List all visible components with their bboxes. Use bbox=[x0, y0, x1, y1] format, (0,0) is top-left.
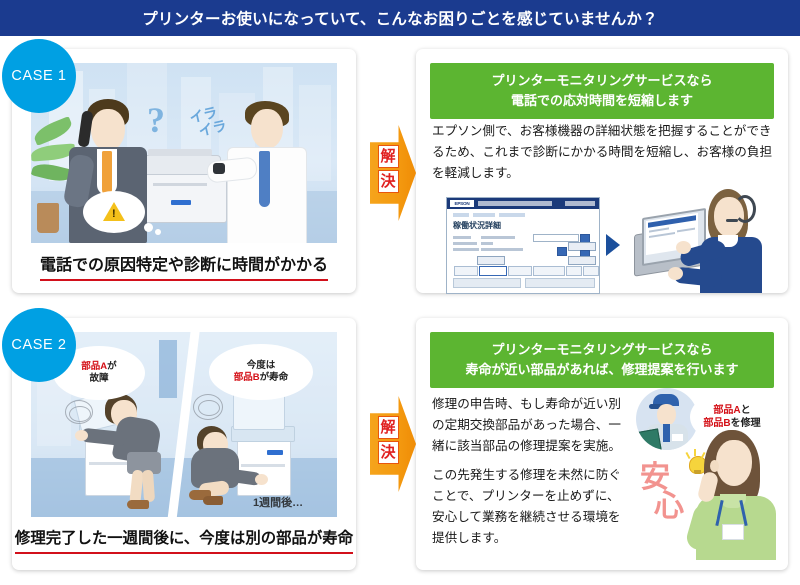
solution-1-card: プリンターモニタリングサービスなら 電話での応対時間を短縮します エプソン側で、… bbox=[416, 49, 788, 293]
screenshot-form-label bbox=[453, 242, 477, 245]
case-1-caption-text: 電話での原因特定や診断に時間がかかる bbox=[40, 251, 328, 281]
bubble-right-suffix: が寿命 bbox=[260, 372, 289, 383]
screenshot-nav-text bbox=[565, 201, 595, 206]
solution-1-header: プリンターモニタリングサービスなら 電話での応対時間を短縮します bbox=[430, 63, 774, 119]
bulb-ray bbox=[685, 452, 690, 459]
plant-pot bbox=[37, 203, 59, 233]
case-2-illustration: 部品Aが 故障 今度は 部品Bが寿命 1週間後… bbox=[31, 332, 337, 517]
head-shape bbox=[716, 440, 752, 486]
solution-2-illustration: 部品Aと 部品Bを修理 安 心 bbox=[634, 388, 780, 560]
screenshot-breadcrumb bbox=[453, 213, 469, 217]
blue-right-arrow-icon bbox=[606, 234, 620, 256]
copier-body bbox=[237, 438, 291, 496]
solution-1-header-line-1: プリンターモニタリングサービスなら bbox=[430, 71, 774, 91]
case-2-caption: 修理完了した一週間後に、今度は別の部品が寿命 bbox=[12, 526, 356, 554]
bubble-left-highlight: 部品A bbox=[81, 361, 107, 372]
hand-shape bbox=[668, 267, 683, 280]
screenshot-form-value bbox=[481, 242, 493, 245]
case-1-card: CASE 1 bbox=[12, 49, 356, 293]
screenshot-tab-active[interactable] bbox=[479, 266, 507, 276]
case-2-bubble-right: 今度は 部品Bが寿命 bbox=[209, 344, 313, 400]
clipboard-icon bbox=[638, 428, 662, 450]
solution-2-paragraph-1: 修理の申告時、もし寿命が近い別の定期交換部品があった場合、一緒に該当部品の修理提… bbox=[432, 394, 630, 456]
case-1-illustration: ! ? イラ イラ bbox=[31, 63, 337, 243]
screenshot-nav-text bbox=[478, 201, 552, 206]
solve-kanji-1: 解 bbox=[378, 416, 399, 439]
headset-mic bbox=[726, 219, 738, 222]
solve-arrow-2: 解 決 bbox=[370, 396, 416, 492]
solution-2-body: 修理の申告時、もし寿命が近い別の定期交換部品があった場合、一緒に該当部品の修理提… bbox=[432, 394, 630, 557]
screenshot-tab[interactable] bbox=[454, 266, 478, 276]
bubble-right-line-2: 部品Bが寿命 bbox=[234, 372, 288, 384]
screenshot-icon-button[interactable] bbox=[557, 247, 567, 256]
solution-1-header-line-2: 電話での応対時間を短縮します bbox=[430, 91, 774, 111]
bubble-tail-dot bbox=[155, 229, 161, 235]
shoe-shape bbox=[127, 500, 149, 509]
necktie-shape bbox=[102, 151, 112, 195]
wristwatch-icon bbox=[213, 163, 225, 174]
head-shape bbox=[91, 109, 125, 151]
solution-1-body-text: エプソン側で、お客様機器の詳細状態を把握することができるため、これまで診断にかか… bbox=[432, 121, 776, 183]
solve-kanji-2: 決 bbox=[378, 170, 399, 193]
screenshot-page-title: 稼働状況詳細 bbox=[453, 220, 501, 231]
bubble-right-highlight: 部品B bbox=[234, 372, 260, 383]
screenshot-tab[interactable] bbox=[583, 266, 599, 276]
shoe-shape bbox=[203, 496, 223, 505]
anshin-char-2: 心 bbox=[654, 493, 684, 522]
bubble-left-line-2: 故障 bbox=[81, 373, 116, 385]
page-title: プリンターお使いになっていて、こんなお困りごとを感じていませんか？ bbox=[142, 7, 658, 29]
hand-shape bbox=[255, 474, 268, 485]
hand-shape bbox=[75, 430, 88, 441]
screenshot-search-button[interactable] bbox=[477, 256, 505, 265]
warning-exclamation: ! bbox=[112, 209, 116, 220]
screenshot-breadcrumb bbox=[473, 213, 495, 217]
head-shape bbox=[657, 404, 676, 426]
case-2-caption-text: 修理完了した一週間後に、今度は別の部品が寿命 bbox=[15, 526, 353, 554]
warning-thought-bubble: ! bbox=[83, 191, 145, 233]
case-1-badge: CASE 1 bbox=[2, 39, 76, 113]
bubble-tail-dot bbox=[144, 223, 153, 232]
repair-bubble-highlight-1: 部品A bbox=[713, 405, 740, 416]
hand-shape bbox=[676, 241, 691, 254]
screenshot-form-value bbox=[481, 248, 523, 251]
bulb-base bbox=[694, 470, 701, 474]
screenshot-form-label bbox=[453, 236, 471, 239]
necktie-shape bbox=[663, 424, 670, 442]
screenshot-table-row bbox=[525, 287, 593, 294]
repair-bubble-suffix: を修理 bbox=[731, 418, 761, 429]
repair-bubble-conj: と bbox=[741, 405, 751, 416]
solve-kanji-2: 決 bbox=[378, 441, 399, 464]
page-header-banner: プリンターお使いになっていて、こんなお困りごとを感じていませんか？ bbox=[0, 0, 800, 36]
copier-drawer bbox=[241, 464, 285, 467]
bubble-left-suffix: が bbox=[107, 361, 117, 372]
solution-1-body: エプソン側で、お客様機器の詳細状態を把握することができるため、これまで診断にかか… bbox=[432, 121, 776, 192]
necktie-shape bbox=[259, 151, 270, 207]
bubble-left-line-1: 部品Aが bbox=[81, 361, 116, 373]
printer-panel bbox=[171, 200, 191, 205]
building-shape bbox=[159, 340, 177, 398]
solve-arrow-1: 解 決 bbox=[370, 125, 416, 221]
screenshot-form-value bbox=[481, 236, 515, 239]
name-badge bbox=[672, 434, 683, 441]
epson-screenshot-thumbnail[interactable]: EPSON 稼働状況詳細 bbox=[446, 197, 600, 294]
scribble-icon bbox=[69, 406, 91, 422]
screenshot-input-field[interactable] bbox=[533, 234, 579, 242]
id-card bbox=[722, 524, 744, 540]
solve-kanji-1: 解 bbox=[378, 145, 399, 168]
anshin-text: 安 心 bbox=[640, 464, 684, 521]
question-mark-text: ? bbox=[147, 99, 165, 141]
repair-bubble-line-1: 部品Aと bbox=[703, 404, 760, 417]
solution-2-card: プリンターモニタリングサービスなら 寿命が近い部品があれば、修理提案を行います … bbox=[416, 318, 788, 570]
solution-2-paragraph-2: この先発生する修理を未然に防ぐことで、プリンターを止めずに、安心して業務を継続さ… bbox=[432, 465, 630, 548]
case-1-caption: 電話での原因特定や診断に時間がかかる bbox=[12, 251, 356, 281]
solve-label: 解 決 bbox=[377, 416, 399, 464]
solution-2-header-line-1: プリンターモニタリングサービスなら bbox=[430, 340, 774, 360]
printer-slot bbox=[153, 183, 207, 186]
screenshot-tab[interactable] bbox=[508, 266, 532, 276]
ear-shape bbox=[710, 460, 719, 472]
scribble-icon bbox=[198, 400, 220, 416]
bubble-right-line-1: 今度は bbox=[234, 360, 288, 372]
epson-logo: EPSON bbox=[450, 200, 474, 207]
copier-panel bbox=[267, 450, 283, 455]
repair-bubble-line-2: 部品Bを修理 bbox=[703, 417, 760, 430]
screenshot-tab[interactable] bbox=[533, 266, 565, 276]
screenshot-breadcrumb bbox=[499, 213, 525, 217]
leg-shape bbox=[142, 470, 155, 503]
technician-circle-frame bbox=[636, 388, 698, 450]
screenshot-table-row bbox=[453, 287, 519, 294]
printer-tray bbox=[148, 149, 212, 156]
screenshot-action-button[interactable] bbox=[568, 256, 596, 265]
bulb-ray bbox=[694, 449, 696, 456]
time-elapsed-label: 1週間後… bbox=[253, 494, 303, 510]
solve-label: 解 決 bbox=[377, 145, 399, 193]
repair-bubble-highlight-2: 部品B bbox=[703, 418, 730, 429]
solution-2-header: プリンターモニタリングサービスなら 寿命が近い部品があれば、修理提案を行います bbox=[430, 332, 774, 388]
operator-illustration bbox=[630, 189, 776, 293]
screenshot-form-label bbox=[453, 248, 479, 251]
screenshot-tab[interactable] bbox=[566, 266, 582, 276]
copier-drawer bbox=[89, 462, 131, 465]
case-2-card: CASE 2 bbox=[12, 318, 356, 570]
solution-2-header-line-2: 寿命が近い部品があれば、修理提案を行います bbox=[430, 360, 774, 380]
case-2-badge: CASE 2 bbox=[2, 308, 76, 382]
head-shape bbox=[251, 109, 283, 149]
